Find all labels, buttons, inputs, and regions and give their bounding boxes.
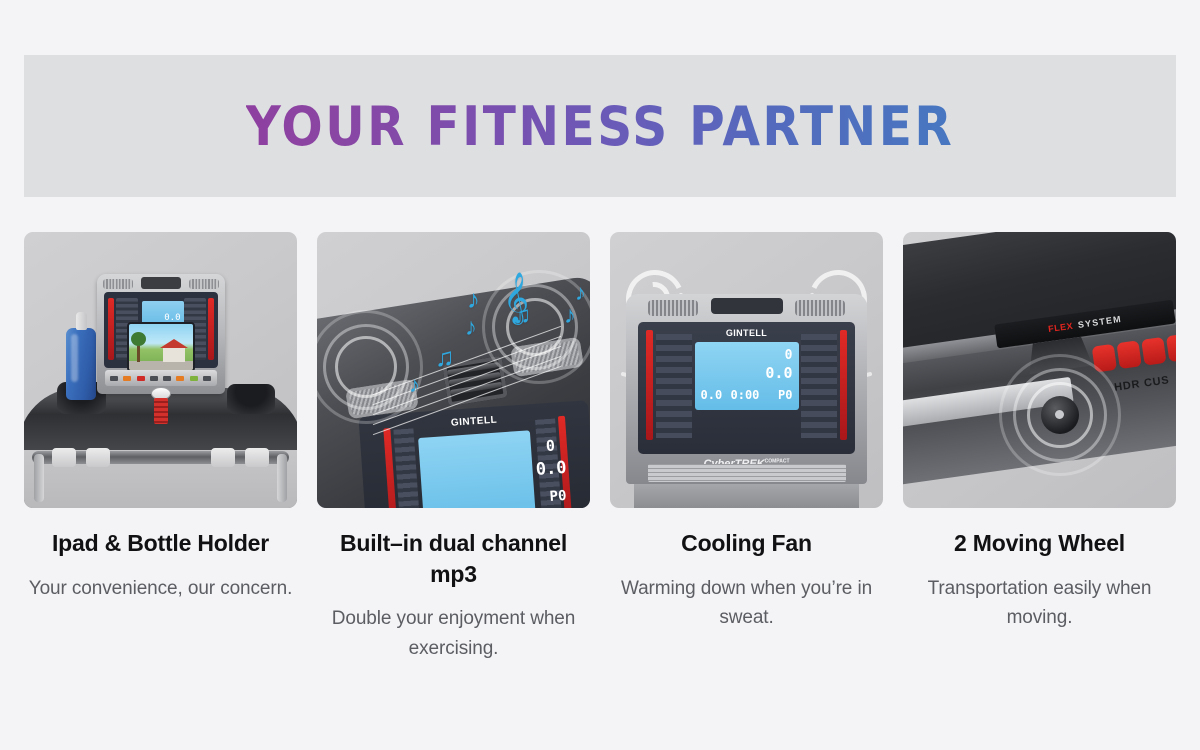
treadmill-console: 0.0	[97, 274, 225, 394]
cushion-block	[1141, 337, 1166, 366]
card-caption: Cooling Fan Warming down when you’re in …	[610, 508, 883, 632]
accent-stripe-right	[208, 298, 214, 360]
scene-roof	[160, 339, 188, 348]
scene-house	[163, 346, 185, 362]
handrail-right	[277, 454, 287, 502]
console-button[interactable]	[110, 376, 118, 381]
console-button-row[interactable]	[105, 370, 217, 386]
card-description: Double your enjoyment when exercising.	[317, 604, 590, 663]
card-description: Transportation easily when moving.	[903, 574, 1176, 633]
console-button[interactable]	[137, 376, 145, 381]
console-button[interactable]	[163, 376, 171, 381]
music-note-icon: ♫	[435, 344, 455, 370]
console-button[interactable]	[123, 376, 131, 381]
card-image-cooling-fan: GINTELL 0 0.0 0.0 0:00 P0	[610, 232, 883, 508]
system-label: SYSTEM	[1077, 314, 1122, 330]
grip-pad	[245, 448, 269, 467]
grip-pad	[86, 448, 110, 467]
console-button[interactable]	[176, 376, 184, 381]
page-title: YOUR FITNESS PARTNER	[246, 95, 955, 158]
music-note-icon: ♪	[575, 282, 586, 304]
feature-card-built-in-dual-channel-mp3[interactable]: GINTELL 0 0.0 P0 0:00	[317, 232, 590, 663]
accessory-tray	[227, 384, 275, 414]
feature-card-cooling-fan[interactable]: GINTELL 0 0.0 0.0 0:00 P0	[610, 232, 883, 663]
accent-stripe-left	[646, 330, 653, 440]
program-keys-left[interactable]	[656, 334, 692, 438]
console-button[interactable]	[150, 376, 158, 381]
music-note-icon: ♪	[467, 286, 480, 312]
page-banner: YOUR FITNESS PARTNER	[24, 55, 1176, 197]
lcd-value-time: 0:00	[731, 388, 760, 402]
warning-label	[648, 464, 846, 482]
console-button[interactable]	[190, 376, 198, 381]
water-bottle	[66, 328, 96, 400]
card-image-built-in-dual-channel-mp3: GINTELL 0 0.0 P0 0:00	[317, 232, 590, 508]
card-description: Warming down when you’re in sweat.	[610, 574, 883, 633]
speaker-grille-left	[648, 300, 698, 316]
speaker-grille-right	[189, 279, 219, 289]
cushion-block	[1166, 333, 1176, 362]
accent-stripe-right	[840, 330, 847, 440]
music-note-icon: ♪	[465, 316, 477, 340]
speaker-grille-left	[103, 279, 133, 289]
bottle-highlight	[71, 334, 78, 382]
grip-pad	[211, 448, 235, 467]
tablet-screen-image	[129, 324, 193, 370]
lcd-value-incline: 0	[785, 348, 793, 363]
grip-pad	[52, 448, 76, 467]
lcd-value-incline: 0	[545, 437, 555, 456]
music-note-icon: ♫	[513, 304, 531, 328]
safety-key-clip	[154, 398, 168, 424]
console-lcd	[418, 430, 537, 508]
flex-label: FLEX	[1048, 321, 1074, 334]
brand-logo: GINTELL	[451, 415, 498, 429]
card-image-2-moving-wheel: FLEX SYSTEM HDR CUS	[903, 232, 1176, 508]
feature-card-ipad-bottle-holder[interactable]: 0.0	[24, 232, 297, 663]
console-face: GINTELL 0 0.0 0.0 0:00 P0	[638, 322, 855, 454]
card-caption: Ipad & Bottle Holder Your convenience, o…	[24, 508, 297, 603]
feature-card-grid: 0.0	[24, 232, 1176, 663]
card-title: Built–in dual channel mp3	[317, 528, 590, 589]
scene-road	[129, 361, 193, 370]
program-keys-left[interactable]	[393, 428, 420, 508]
console-frame: GINTELL 0 0.0 0.0 0:00 P0	[626, 294, 867, 484]
lcd-value-program: P0	[778, 388, 792, 402]
card-image-ipad-bottle-holder: 0.0	[24, 232, 297, 508]
handrail-left	[34, 454, 44, 502]
card-caption: Built–in dual channel mp3 Double your en…	[317, 508, 590, 663]
lcd-value-program: P0	[549, 488, 567, 505]
wheel-hub	[1055, 410, 1064, 419]
feature-card-2-moving-wheel[interactable]: FLEX SYSTEM HDR CUS	[903, 232, 1176, 663]
console-handle	[711, 298, 783, 314]
console-lcd: 0 0.0 0.0 0:00 P0	[695, 342, 799, 410]
console-button[interactable]	[203, 376, 211, 381]
card-title: 2 Moving Wheel	[903, 528, 1176, 559]
card-description: Your convenience, our concern.	[24, 574, 297, 603]
product-feature-page: YOUR FITNESS PARTNER	[0, 0, 1200, 750]
speaker-grille-right	[795, 300, 845, 316]
music-note-icon: ♪	[564, 304, 576, 328]
scene-tree-foliage	[131, 332, 146, 346]
lcd-value-speed: 0.0	[535, 458, 567, 480]
lcd-value-speed: 0.0	[765, 364, 792, 382]
console-handle	[141, 277, 181, 289]
music-note-icon: ♪	[409, 374, 420, 396]
card-title: Cooling Fan	[610, 528, 883, 559]
accent-stripe-left	[108, 298, 114, 360]
bottle-cap	[76, 312, 87, 330]
program-keys-right[interactable]	[801, 334, 837, 438]
cushion-block	[1116, 340, 1141, 369]
lcd-value-cal: 0.0	[701, 388, 723, 402]
transport-wheel	[1041, 396, 1079, 434]
card-title: Ipad & Bottle Holder	[24, 528, 297, 559]
card-caption: 2 Moving Wheel Transportation easily whe…	[903, 508, 1176, 632]
tablet-device	[127, 322, 195, 372]
brand-logo: GINTELL	[726, 328, 767, 338]
